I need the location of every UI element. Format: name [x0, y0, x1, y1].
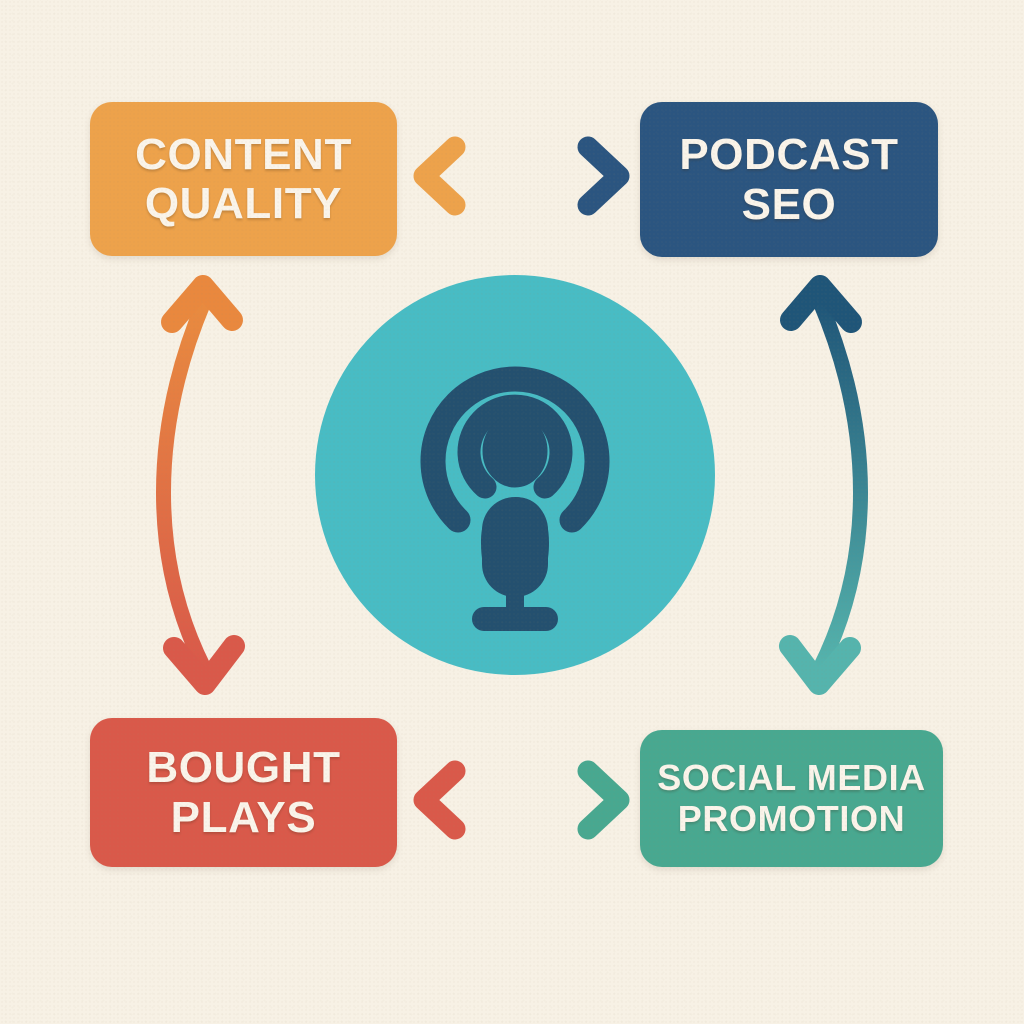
podcast-broadcast-icon [315, 275, 715, 675]
connector-left-curved-arrow [164, 286, 235, 684]
node-content-quality-line2: QUALITY [145, 179, 342, 228]
node-bought-plays-label: BOUGHT PLAYS [134, 743, 352, 842]
node-content-quality-label: CONTENT QUALITY [123, 130, 364, 229]
node-podcast-seo[interactable]: PODCAST SEO [640, 102, 938, 257]
node-content-quality[interactable]: CONTENT QUALITY [90, 102, 397, 256]
connector-top-double-arrow [424, 147, 619, 205]
node-podcast-seo-line1: PODCAST [679, 130, 898, 179]
node-bought-plays[interactable]: BOUGHT PLAYS [90, 718, 397, 867]
node-social-media-promotion-line1: SOCIAL MEDIA [657, 757, 926, 798]
node-podcast-seo-label: PODCAST SEO [667, 130, 910, 229]
node-content-quality-line1: CONTENT [135, 130, 352, 179]
node-social-media-promotion-label: SOCIAL MEDIA PROMOTION [645, 758, 938, 839]
connector-right-curved-arrow [790, 286, 861, 684]
node-podcast-seo-line2: SEO [742, 180, 837, 229]
node-bought-plays-line2: PLAYS [171, 793, 317, 842]
diagram-canvas: CONTENT QUALITY PODCAST SEO BOUGHT PLAYS… [0, 0, 1024, 1024]
node-social-media-promotion[interactable]: SOCIAL MEDIA PROMOTION [640, 730, 943, 867]
node-bought-plays-line1: BOUGHT [146, 743, 340, 792]
node-social-media-promotion-line2: PROMOTION [678, 798, 905, 839]
connector-bottom-double-arrow [424, 771, 619, 829]
